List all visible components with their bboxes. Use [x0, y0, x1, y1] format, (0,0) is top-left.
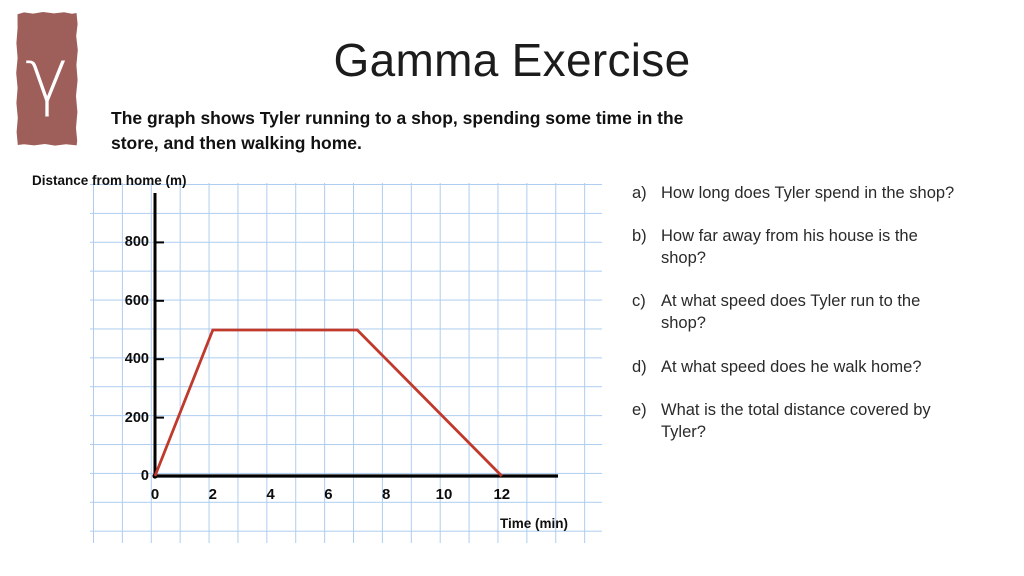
x-tick-label: 2 — [198, 486, 228, 503]
y-tick-label: 600 — [103, 293, 149, 309]
question-item: b)How far away from his house is the sho… — [632, 225, 962, 269]
question-text: How far away from his house is the shop? — [661, 225, 962, 269]
page-title: Gamma Exercise — [0, 33, 1024, 87]
question-marker: e) — [632, 399, 661, 421]
x-tick-label: 6 — [313, 486, 343, 503]
y-tick-label: 200 — [103, 410, 149, 426]
y-tick-label: 400 — [103, 351, 149, 367]
question-marker: a) — [632, 182, 661, 204]
x-tick-label: 4 — [256, 486, 286, 503]
question-item: a)How long does Tyler spend in the shop? — [632, 182, 962, 204]
journey-line-series — [155, 330, 502, 476]
question-marker: b) — [632, 225, 661, 247]
question-text: What is the total distance covered by Ty… — [661, 399, 962, 443]
question-text: At what speed does Tyler run to the shop… — [661, 290, 962, 334]
x-tick-label: 8 — [371, 486, 401, 503]
slide-subtitle: The graph shows Tyler running to a shop,… — [111, 106, 711, 156]
question-item: c)At what speed does Tyler run to the sh… — [632, 290, 962, 334]
y-tick-label: 800 — [103, 234, 149, 250]
question-text: At what speed does he walk home? — [661, 356, 962, 378]
question-item: d)At what speed does he walk home? — [632, 356, 962, 378]
x-tick-label: 12 — [487, 486, 517, 503]
x-tick-label: 10 — [429, 486, 459, 503]
y-tick-label: 0 — [103, 468, 149, 484]
question-list: a)How long does Tyler spend in the shop?… — [632, 182, 962, 464]
distance-time-graph: Distance from home (m) Time (min) 020040… — [90, 183, 602, 543]
question-item: e)What is the total distance covered by … — [632, 399, 962, 443]
x-tick-label: 0 — [140, 486, 170, 503]
question-marker: c) — [632, 290, 661, 312]
question-text: How long does Tyler spend in the shop? — [661, 182, 962, 204]
question-marker: d) — [632, 356, 661, 378]
